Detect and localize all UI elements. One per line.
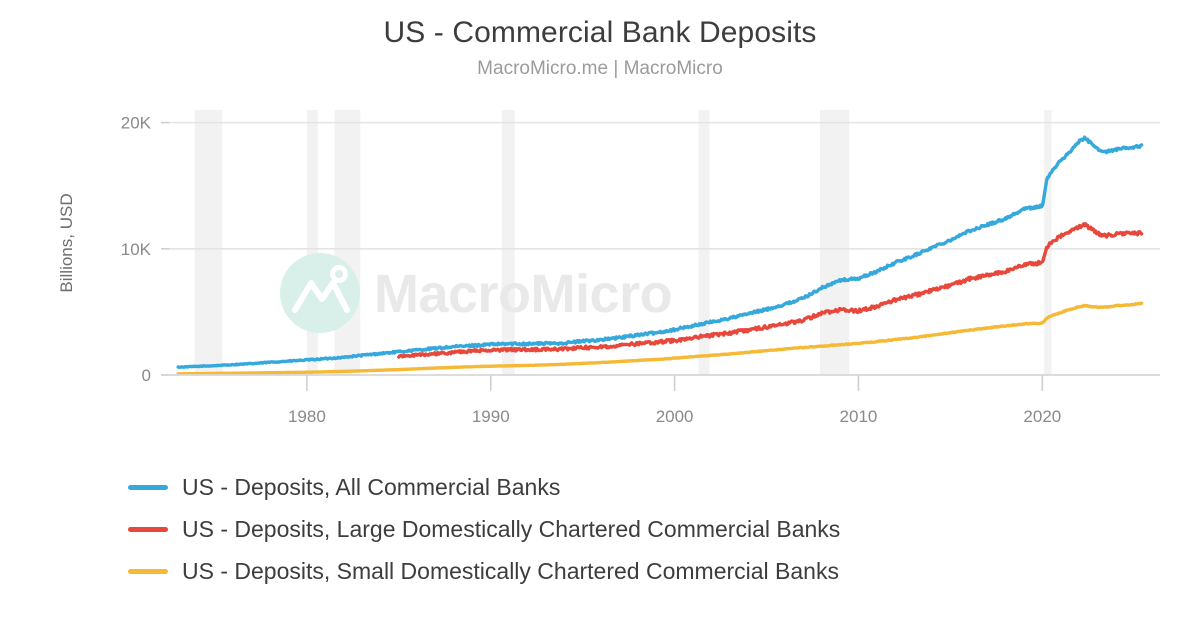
- x-tick-label-0: 1980: [288, 407, 326, 426]
- chart-card: US - Commercial Bank Deposits MacroMicro…: [0, 0, 1200, 630]
- recession-band-2: [334, 110, 360, 375]
- x-tick-label-3: 2010: [840, 407, 878, 426]
- x-tick-label-2: 2000: [656, 407, 694, 426]
- legend-label-0: US - Deposits, All Commercial Banks: [182, 473, 560, 501]
- recession-band-5: [820, 110, 849, 375]
- y-tick-label-1: 10K: [121, 240, 152, 259]
- legend-label-2: US - Deposits, Small Domestically Charte…: [182, 557, 839, 585]
- x-tick-label-4: 2020: [1023, 407, 1061, 426]
- legend-item-2[interactable]: US - Deposits, Small Domestically Charte…: [128, 550, 1178, 592]
- y-axis-title: Billions, USD: [57, 193, 76, 292]
- recession-band-1: [307, 110, 318, 375]
- chart-svg[interactable]: MacroMicro 010K20K19801990200020102020 B…: [0, 0, 1200, 470]
- recession-band-3: [502, 110, 515, 375]
- y-tick-label-0: 0: [142, 366, 151, 385]
- watermark-text: MacroMicro: [374, 264, 672, 324]
- y-axis-title-text: Billions, USD: [57, 193, 76, 292]
- legend[interactable]: US - Deposits, All Commercial Banks US -…: [128, 466, 1178, 592]
- legend-swatch-2: [128, 569, 168, 574]
- legend-swatch-0: [128, 485, 168, 490]
- watermark: MacroMicro: [280, 253, 672, 333]
- y-tick-label-2: 20K: [121, 114, 152, 133]
- x-tick-label-1: 1990: [472, 407, 510, 426]
- plot-area[interactable]: MacroMicro 010K20K19801990200020102020 B…: [0, 0, 1200, 470]
- legend-item-1[interactable]: US - Deposits, Large Domestically Charte…: [128, 508, 1178, 550]
- legend-swatch-1: [128, 527, 168, 532]
- legend-label-1: US - Deposits, Large Domestically Charte…: [182, 515, 840, 543]
- recession-band-0: [195, 110, 223, 375]
- legend-item-0[interactable]: US - Deposits, All Commercial Banks: [128, 466, 1178, 508]
